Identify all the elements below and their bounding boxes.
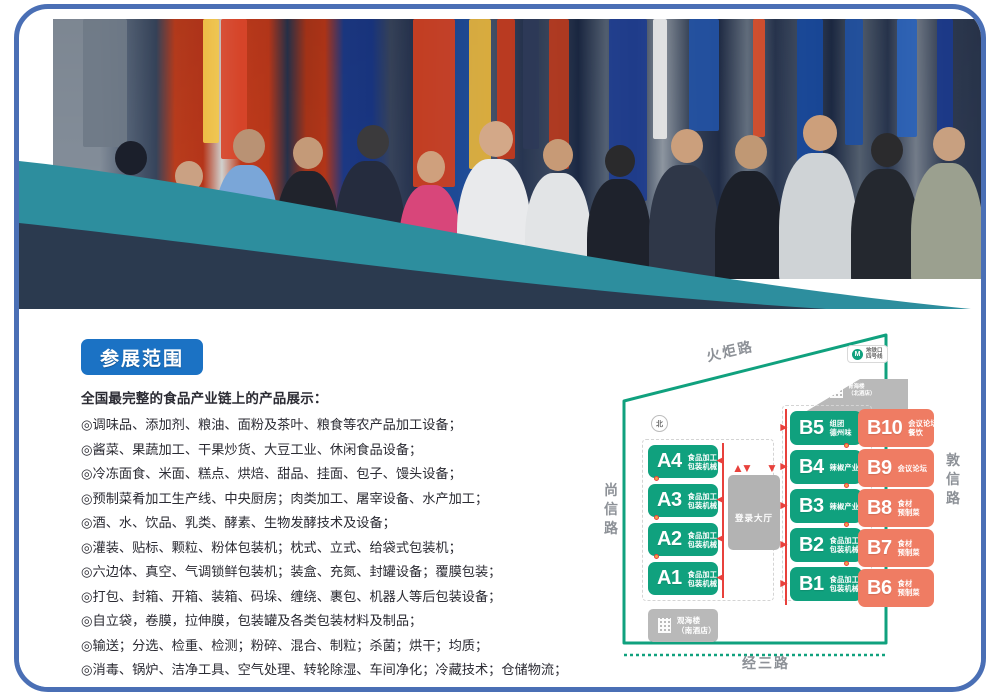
hall-b8-code: B8	[858, 497, 892, 520]
booth-sign	[897, 19, 917, 137]
section-badge-scope: 参展范围	[81, 339, 203, 375]
hall-b3[interactable]: B3 辣椒产业	[790, 489, 862, 523]
flow-arrow-left: ◄	[714, 455, 726, 465]
hall-b2-desc: 食品加工 包装机械	[824, 536, 860, 554]
hall-a4-code: A4	[648, 450, 682, 473]
registration-lobby[interactable]: 登录大厅	[728, 475, 780, 550]
hall-b7[interactable]: B7 食材 预制菜	[858, 529, 934, 567]
hall-b9-code: B9	[858, 457, 892, 480]
hall-b4-desc: 辣椒产业	[824, 463, 860, 472]
compass-north-icon: 北	[651, 415, 668, 432]
banner-photo-area	[19, 9, 986, 309]
north-hotel-label: 青海楼 （北酒店）	[848, 384, 876, 398]
hall-b10-desc: 会议论坛 餐饮	[902, 419, 934, 437]
building-icon	[658, 618, 671, 633]
hall-b4[interactable]: B4 辣椒产业	[790, 450, 862, 484]
hall-b7-desc: 食材 预制菜	[892, 539, 920, 557]
scope-text-block: 全国最完整的食品产业链上的产品展示： ◎调味品、添加剂、粮油、面粉及茶叶、粮食等…	[81, 387, 581, 683]
content-area: 参展范围 全国最完整的食品产业链上的产品展示： ◎调味品、添加剂、粮油、面粉及茶…	[19, 309, 986, 692]
hall-b1-desc: 食品加工 包装机械	[824, 575, 860, 593]
hall-a2-code: A2	[648, 528, 682, 551]
booth-sign	[845, 19, 863, 145]
hall-b6-desc: 食材 预制菜	[892, 579, 920, 597]
hall-b9[interactable]: B9 会议论坛	[858, 449, 934, 487]
exit-marker	[844, 443, 849, 448]
road-label-west: 尚信路	[604, 481, 622, 538]
hall-a1-code: A1	[648, 567, 682, 590]
flow-arrow-down: ▼	[766, 463, 778, 473]
hall-b2[interactable]: B2 食品加工 包装机械	[790, 528, 862, 562]
navy-wave-decoration	[19, 189, 986, 309]
scope-item: ◎消毒、锅炉、洁净工具、空气处理、转轮除湿、车间净化；冷藏技术；仓储物流；	[81, 658, 581, 683]
hall-b10-code: B10	[858, 417, 902, 440]
page-root: 参展范围 全国最完整的食品产业链上的产品展示： ◎调味品、添加剂、粮油、面粉及茶…	[0, 0, 1000, 696]
hall-b6-code: B6	[858, 577, 892, 600]
hall-a1[interactable]: A1 食品加工 包装机械	[648, 562, 718, 595]
metro-label-line2: 四号线	[866, 354, 883, 360]
booth-sign	[653, 19, 667, 139]
scope-item: ◎酒、水、饮品、乳类、酵素、生物发酵技术及设备；	[81, 511, 581, 536]
exit-marker	[654, 515, 659, 520]
booth-sign	[203, 19, 219, 143]
scope-item: ◎灌装、贴标、颗粒、粉体包装机；枕式、立式、给袋式包装机；	[81, 536, 581, 561]
hall-b1-code: B1	[790, 573, 824, 596]
hall-a3-code: A3	[648, 489, 682, 512]
flow-arrow-right: ►	[778, 500, 790, 510]
hall-a2[interactable]: A2 食品加工 包装机械	[648, 523, 718, 556]
scope-item: ◎酱菜、果蔬加工、干果炒货、大豆工业、休闲食品设备；	[81, 438, 581, 463]
road-label-east: 敦信路	[946, 451, 964, 508]
hall-b4-code: B4	[790, 456, 824, 479]
booth-sign	[83, 19, 127, 147]
flow-arrow-left: ◄	[714, 533, 726, 543]
hall-b5[interactable]: B5 组团 德州味	[790, 411, 862, 445]
building-icon	[830, 383, 843, 398]
hall-a4[interactable]: A4 食品加工 包装机械	[648, 445, 718, 478]
booth-sign	[689, 19, 719, 131]
booth-sign	[753, 19, 765, 137]
hall-b5-desc: 组团 德州味	[824, 419, 852, 437]
hall-b9-desc: 会议论坛	[892, 464, 928, 473]
venue-map[interactable]: 火炬路 尚信路 敦信路 经三路 M 地铁口 四号线 北	[594, 323, 984, 685]
scope-item: ◎六边体、真空、气调锁鲜包装机；装盒、充氮、封罐设备；覆膜包装；	[81, 560, 581, 585]
metro-logo-icon: M	[852, 349, 863, 360]
flow-arrow-down: ▼	[741, 463, 753, 473]
hall-b1[interactable]: B1 食品加工 包装机械	[790, 567, 862, 601]
scope-item: ◎输送；分选、检重、检测；粉碎、混合、制粒；杀菌；烘干；均质；	[81, 634, 581, 659]
scope-item: ◎调味品、添加剂、粮油、面粉及茶叶、粮食等农产品加工设备；	[81, 413, 581, 438]
exit-marker	[654, 554, 659, 559]
hall-b3-desc: 辣椒产业	[824, 502, 860, 511]
flow-arrow-right: ►	[778, 539, 790, 549]
flow-arrow-left: ◄	[714, 494, 726, 504]
hall-b3-code: B3	[790, 495, 824, 518]
hall-a4-desc: 食品加工 包装机械	[682, 453, 718, 471]
scope-item: ◎预制菜肴加工生产线、中央厨房；肉类加工、屠宰设备、水产加工；	[81, 487, 581, 512]
scope-item: ◎自立袋，卷膜，拉伸膜，包装罐及各类包装材料及制品；	[81, 609, 581, 634]
south-hotel[interactable]: 观海楼 （南酒店）	[648, 609, 718, 642]
hall-a1-desc: 食品加工 包装机械	[682, 570, 718, 588]
scope-item: ◎冷冻面食、米面、糕点、烘焙、甜品、挂面、包子、馒头设备；	[81, 462, 581, 487]
scope-title: 全国最完整的食品产业链上的产品展示：	[81, 387, 581, 411]
scope-item: ◎打包、封箱、开箱、装箱、码垛、缠绕、裹包、机器人等后包装设备；	[81, 585, 581, 610]
exit-marker	[844, 522, 849, 527]
hall-b8-desc: 食材 预制菜	[892, 499, 920, 517]
north-hotel-label-group: 青海楼 （北酒店）	[830, 383, 876, 398]
flow-arrow-left: ◄	[714, 572, 726, 582]
hall-a3[interactable]: A3 食品加工 包装机械	[648, 484, 718, 517]
hall-b10[interactable]: B10 会议论坛 餐饮	[858, 409, 934, 447]
hall-b6[interactable]: B6 食材 预制菜	[858, 569, 934, 607]
exit-marker	[654, 476, 659, 481]
hall-b2-code: B2	[790, 534, 824, 557]
flow-arrow-right: ►	[778, 422, 790, 432]
south-hotel-label: 观海楼 （南酒店）	[677, 616, 716, 636]
hall-a3-desc: 食品加工 包装机械	[682, 492, 718, 510]
flow-arrow-right: ►	[778, 461, 790, 471]
exit-marker	[844, 561, 849, 566]
road-label-south: 经三路	[742, 653, 790, 673]
hall-a2-desc: 食品加工 包装机械	[682, 531, 718, 549]
hall-b8[interactable]: B8 食材 预制菜	[858, 489, 934, 527]
exit-marker	[844, 483, 849, 488]
metro-entrance-icon[interactable]: M 地铁口 四号线	[847, 345, 888, 363]
poster-frame: 参展范围 全国最完整的食品产业链上的产品展示： ◎调味品、添加剂、粮油、面粉及茶…	[14, 4, 986, 692]
hall-b5-code: B5	[790, 417, 824, 440]
hall-b7-code: B7	[858, 537, 892, 560]
flow-arrow-right: ►	[778, 578, 790, 588]
